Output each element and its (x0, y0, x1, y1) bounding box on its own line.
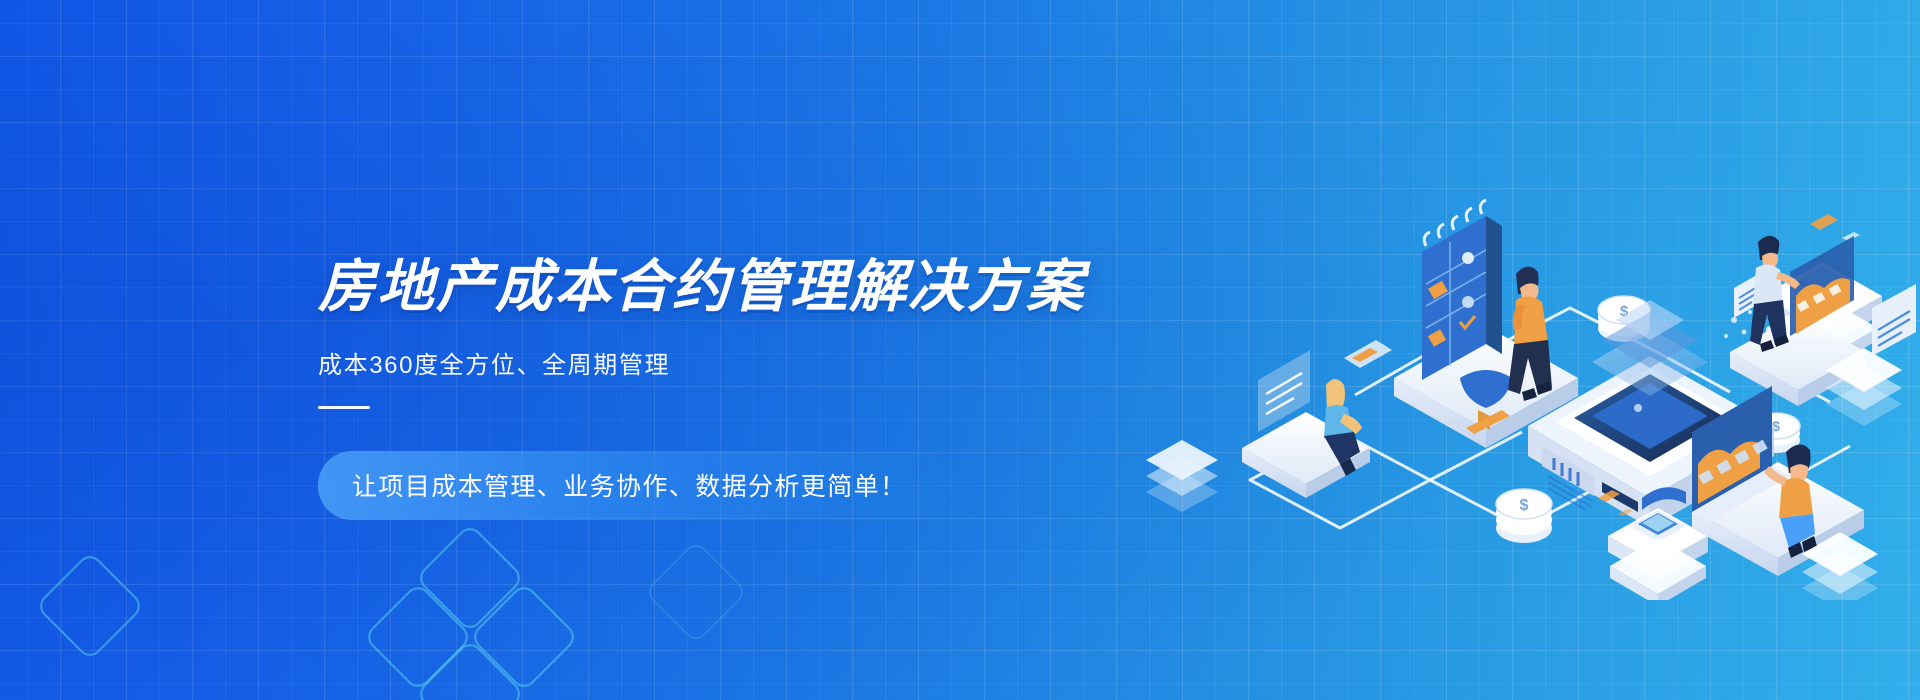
document-platform (1242, 340, 1392, 498)
floating-card-stack-left (1146, 440, 1218, 512)
task-dot-2 (1462, 296, 1474, 308)
isometric-network-illustration: $ $ $ (1130, 180, 1920, 600)
tagline-text: 让项目成本管理、业务协作、数据分析更简单！ (352, 473, 906, 501)
tagline-pill: 让项目成本管理、业务协作、数据分析更简单！ (318, 451, 952, 520)
calendar-board-platform (1394, 200, 1578, 448)
svg-text:$: $ (1520, 497, 1529, 514)
hero-banner: 房地产成本合约管理解决方案 成本360度全方位、全周期管理 让项目成本管理、业务… (0, 0, 1920, 700)
dollar-coin-stack-mid: $ (1496, 489, 1552, 543)
task-dot-1 (1462, 252, 1474, 264)
photo-card (1344, 340, 1392, 368)
title-divider (318, 406, 370, 409)
